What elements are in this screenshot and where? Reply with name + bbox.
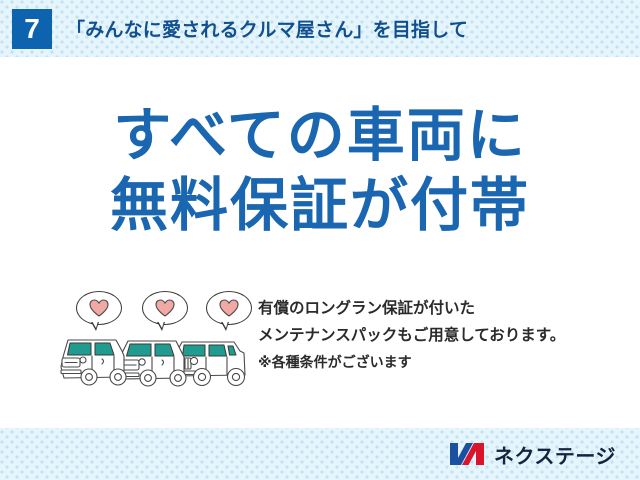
- brand-name: ネクステージ: [494, 440, 616, 469]
- lower-section: 有償のロングラン保証が付いた メンテナンスパックもご用意しております。 ※各種条…: [0, 289, 640, 409]
- car-kei-wagon: [61, 340, 126, 385]
- content-card: すべての車両に 無料保証が付帯: [0, 57, 640, 428]
- three-cars-graphic: [58, 331, 248, 394]
- headline-line-1: すべての車両に: [0, 101, 640, 171]
- heart-icon: [219, 299, 239, 317]
- headline-line-2: 無料保証が付帯: [0, 171, 640, 241]
- headline: すべての車両に 無料保証が付帯: [0, 101, 640, 241]
- body-copy: 有償のロングラン保証が付いた メンテナンスパックもご用意しております。 ※各種条…: [258, 295, 630, 376]
- brand-logo: ネクステージ: [449, 440, 616, 469]
- heart-icon: [155, 299, 175, 317]
- cars-illustration: [58, 289, 248, 394]
- header-title: 「みんなに愛されるクルマ屋さん」を目指して: [66, 15, 468, 42]
- body-copy-line-2: メンテナンスパックもご用意しております。: [258, 322, 630, 349]
- heart-icon: [89, 299, 109, 317]
- speech-bubble-tail-fill: [222, 321, 228, 328]
- heart-bubble-1: [76, 291, 124, 329]
- body-copy-note: ※各種条件がございます: [258, 349, 630, 376]
- heart-bubbles-group: [58, 289, 248, 337]
- speech-bubble-tail-fill: [158, 321, 164, 328]
- heart-bubble-3: [206, 291, 254, 329]
- car-minivan: [117, 341, 186, 386]
- nextage-n-logo-icon: [449, 442, 485, 466]
- speech-bubble-tail-fill: [92, 321, 98, 328]
- section-number-badge: 7: [12, 9, 52, 49]
- slide-footer: ネクステージ: [0, 428, 640, 480]
- slide-header: 7 「みんなに愛されるクルマ屋さん」を目指して: [0, 0, 640, 57]
- slide-background: 7 「みんなに愛されるクルマ屋さん」を目指して すべての車両に 無料保証が付帯: [0, 0, 640, 480]
- heart-bubble-2: [142, 291, 190, 329]
- body-copy-line-1: 有償のロングラン保証が付いた: [258, 295, 630, 322]
